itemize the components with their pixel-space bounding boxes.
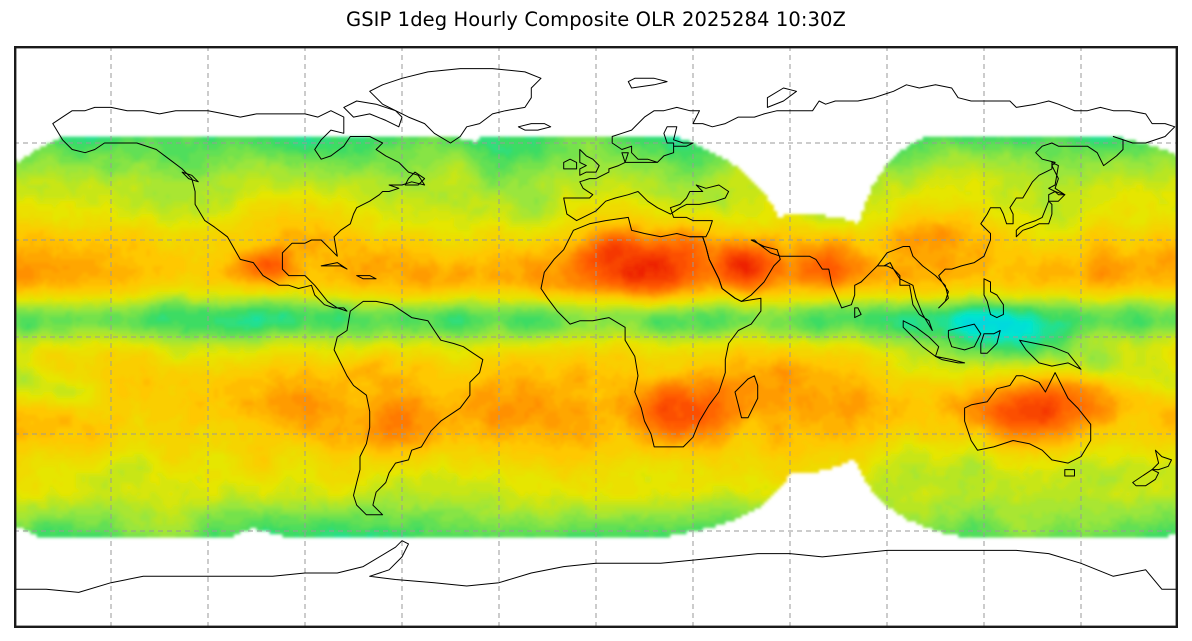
figure-title: GSIP 1deg Hourly Composite OLR 2025284 1… [0,8,1192,31]
map-canvas [14,46,1178,628]
olr-map-figure: GSIP 1deg Hourly Composite OLR 2025284 1… [0,0,1192,641]
map-panel [14,46,1178,628]
